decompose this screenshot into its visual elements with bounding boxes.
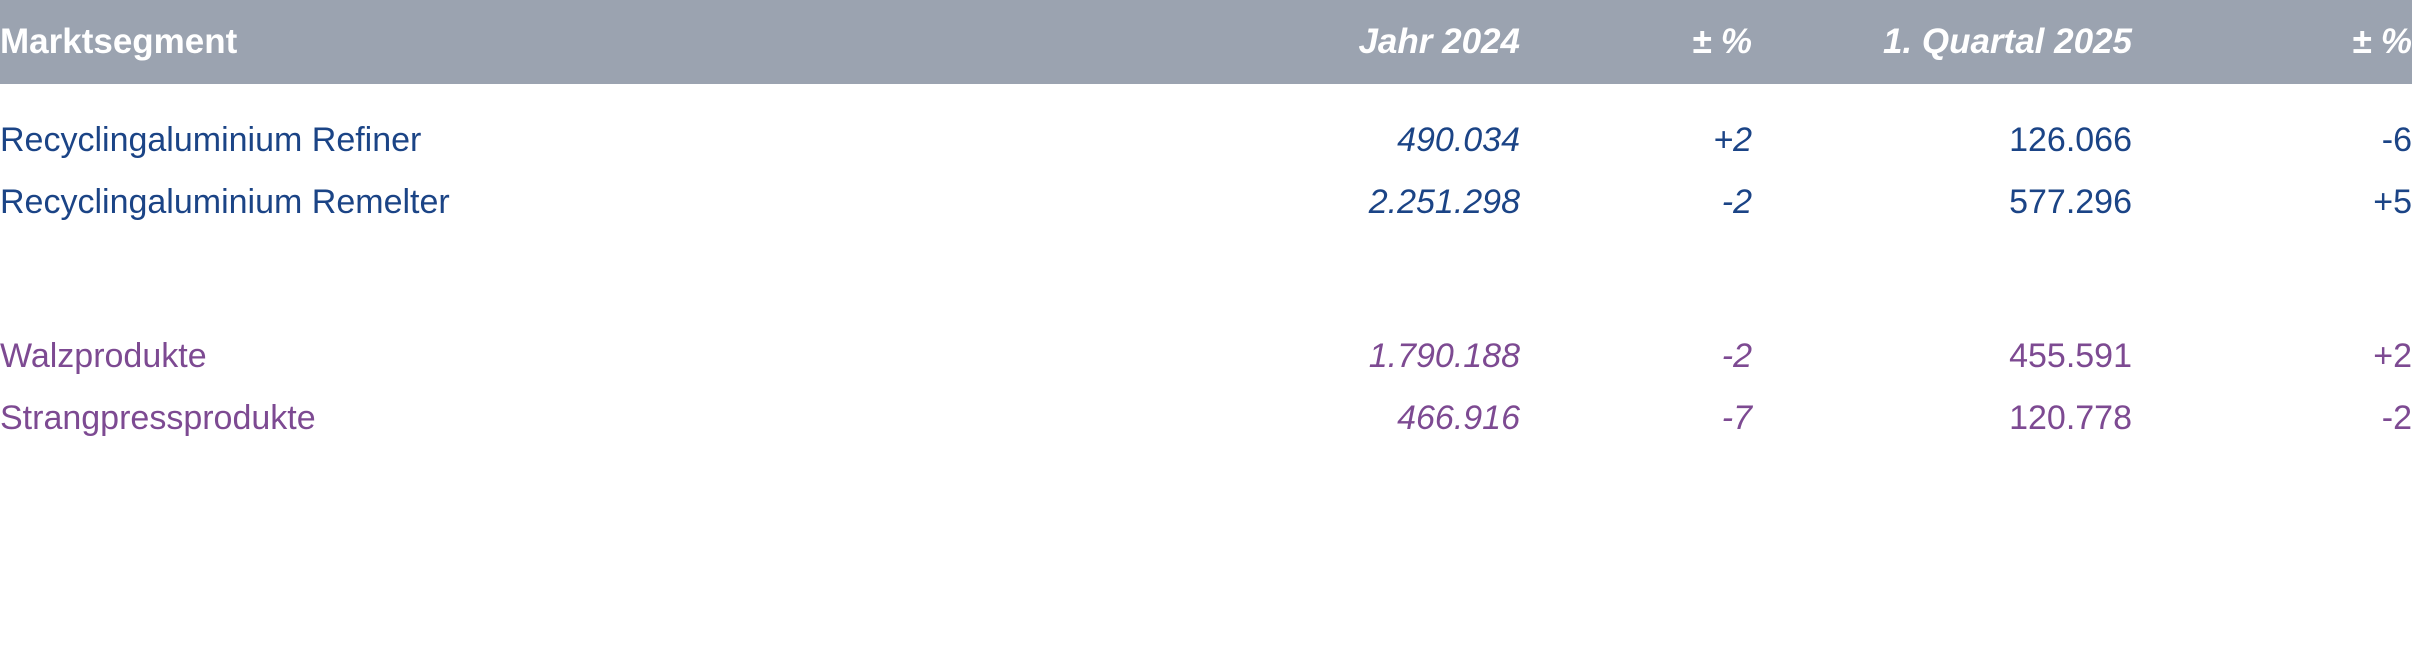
row-value-percent-year: -2 (1520, 172, 1752, 234)
row-value-quarter: 576.369 (1752, 458, 2132, 534)
market-segment-table: Marktsegment Jahr 2024 ± % 1. Quartal 20… (0, 0, 2412, 534)
row-value-percent-year: -2 (1520, 326, 1752, 388)
row-value-quarter: 703.362 (1752, 242, 2132, 318)
row-value-year: 1.790.188 (1248, 326, 1520, 388)
row-label: Walzprodukte (0, 326, 1248, 388)
table-page: Marktsegment Jahr 2024 ± % 1. Quartal 20… (0, 0, 2412, 662)
table-row-total: Recyclingaluminium gesamt 2.741.332 -2 7… (0, 242, 2412, 318)
row-value-year: 490.034 (1248, 110, 1520, 172)
row-value-year: 466.916 (1248, 388, 1520, 450)
row-value-year: 2.251.298 (1248, 172, 1520, 234)
band-spacer-cell (0, 318, 2412, 326)
row-value-quarter: 455.591 (1752, 326, 2132, 388)
column-header-segment: Marktsegment (0, 0, 1248, 84)
table-row-total: Aluminiumhalbzeug gesamt 2.257.104 -3 57… (0, 458, 2412, 534)
row-value-quarter: 126.066 (1752, 110, 2132, 172)
column-header-percent-year: ± % (1520, 0, 1752, 84)
row-value-year: 2.257.104 (1248, 458, 1520, 534)
row-value-percent-year: -2 (1520, 242, 1752, 318)
row-value-percent-quarter: +3 (2132, 242, 2412, 318)
band-spacer-cell (0, 234, 2412, 242)
table-body: Recyclingaluminium Refiner 490.034 +2 12… (0, 84, 2412, 534)
row-value-quarter: 577.296 (1752, 172, 2132, 234)
row-value-percent-year: -3 (1520, 458, 1752, 534)
row-value-percent-quarter: +5 (2132, 172, 2412, 234)
header-row: Marktsegment Jahr 2024 ± % 1. Quartal 20… (0, 0, 2412, 84)
column-header-year-2024: Jahr 2024 (1248, 0, 1520, 84)
row-value-percent-year: +2 (1520, 110, 1752, 172)
row-value-percent-year: -7 (1520, 388, 1752, 450)
row-value-percent-quarter: -2 (2132, 388, 2412, 450)
table-header: Marktsegment Jahr 2024 ± % 1. Quartal 20… (0, 0, 2412, 84)
row-label: Recyclingaluminium Remelter (0, 172, 1248, 234)
band-spacer (0, 318, 2412, 326)
row-value-year: 2.741.332 (1248, 242, 1520, 318)
column-header-percent-quarter: ± % (2132, 0, 2412, 84)
row-label: Aluminiumhalbzeug gesamt (0, 458, 1248, 534)
table-row: Recyclingaluminium Refiner 490.034 +2 12… (0, 110, 2412, 172)
row-value-percent-quarter: +1 (2132, 458, 2412, 534)
row-value-quarter: 120.778 (1752, 388, 2132, 450)
row-label: Recyclingaluminium Refiner (0, 110, 1248, 172)
header-spacer (0, 84, 2412, 110)
row-value-percent-quarter: -6 (2132, 110, 2412, 172)
table-row: Strangpressprodukte 466.916 -7 120.778 -… (0, 388, 2412, 450)
band-spacer (0, 234, 2412, 242)
row-label: Recyclingaluminium gesamt (0, 242, 1248, 318)
header-spacer-cell (0, 84, 2412, 110)
row-label: Strangpressprodukte (0, 388, 1248, 450)
column-header-quarter-2025: 1. Quartal 2025 (1752, 0, 2132, 84)
band-spacer (0, 450, 2412, 458)
table-row: Recyclingaluminium Remelter 2.251.298 -2… (0, 172, 2412, 234)
row-value-percent-quarter: +2 (2132, 326, 2412, 388)
band-spacer-cell (0, 450, 2412, 458)
table-row: Walzprodukte 1.790.188 -2 455.591 +2 (0, 326, 2412, 388)
